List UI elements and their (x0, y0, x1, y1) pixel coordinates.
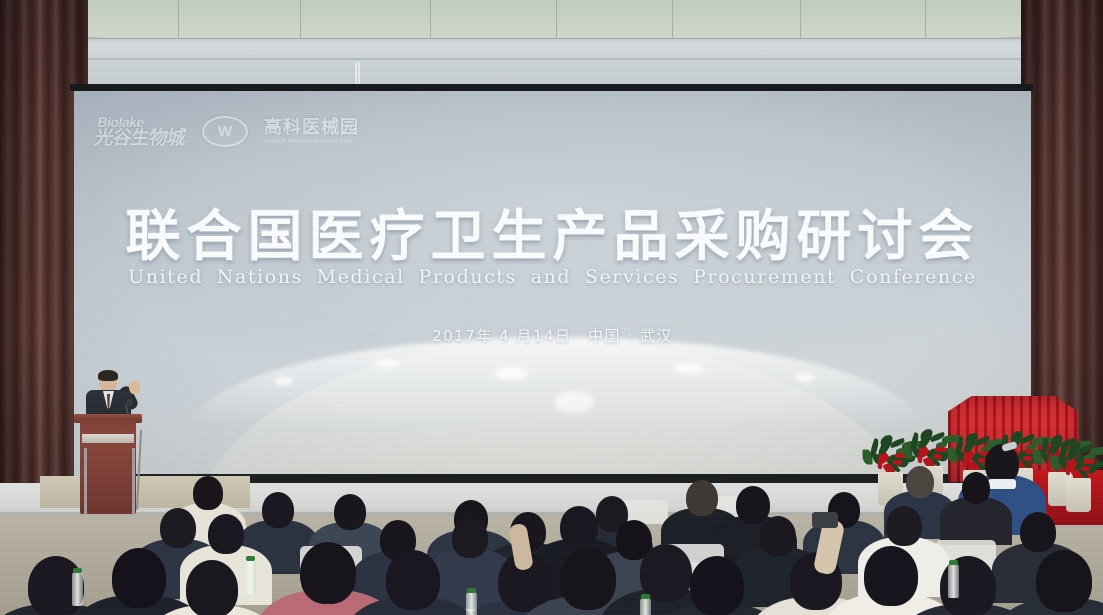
ceiling (0, 0, 1103, 42)
speaker-hair (98, 370, 118, 381)
attendee-front-head (1036, 550, 1092, 612)
plant-pot (1066, 478, 1091, 512)
bottle-cap (641, 594, 650, 599)
attendee-front-head (690, 556, 744, 615)
attendee-head (1020, 512, 1056, 552)
poinsettia-bract (935, 446, 948, 453)
bottle-cap (467, 588, 476, 593)
screen-top-frame (70, 84, 1033, 91)
attendee-head (334, 494, 366, 530)
bottle-cap (246, 556, 255, 561)
attendee-head (452, 518, 488, 558)
microphone-icon (126, 399, 133, 406)
attendee-shoulders (940, 497, 1012, 545)
conference-hall-photo: Biolake 光谷生物城 W 高科医械园 Hi-tech Medical De… (0, 0, 1103, 615)
attendee-head (760, 516, 796, 556)
water-bottle (640, 598, 651, 615)
attendee-head (686, 480, 718, 516)
water-bottle (245, 560, 256, 594)
attendee-front-head (386, 550, 440, 610)
podium (80, 418, 136, 514)
attendee-front-head (560, 548, 616, 610)
camera-icon (812, 512, 838, 528)
water-bottle (466, 592, 477, 615)
attendee-head (906, 466, 934, 498)
poinsettia-bract (1083, 458, 1096, 465)
attendee-head (560, 506, 598, 548)
attendee-front-head (300, 542, 356, 604)
plant-leaf (1090, 447, 1103, 455)
attendee-head (736, 486, 770, 524)
attendee-head (262, 492, 294, 528)
water-bottle (948, 564, 959, 598)
attendee-head (962, 472, 990, 504)
bottle-cap (73, 568, 82, 573)
attendee-head (208, 514, 244, 554)
attendee-head (160, 508, 196, 548)
attendee-head (193, 476, 223, 510)
water-bottle (72, 572, 83, 606)
attendee-front-head (864, 546, 918, 606)
ceiling-beam (0, 38, 1103, 60)
ceiling-curved-panel (0, 0, 1103, 42)
projection-screen: Biolake 光谷生物城 W 高科医械园 Hi-tech Medical De… (74, 91, 1031, 476)
standing-person-collar (988, 479, 1016, 489)
bottle-cap (949, 560, 958, 565)
attendee-front-head (186, 560, 238, 615)
attendee-head (886, 506, 922, 546)
attendee-front-head (112, 548, 166, 608)
